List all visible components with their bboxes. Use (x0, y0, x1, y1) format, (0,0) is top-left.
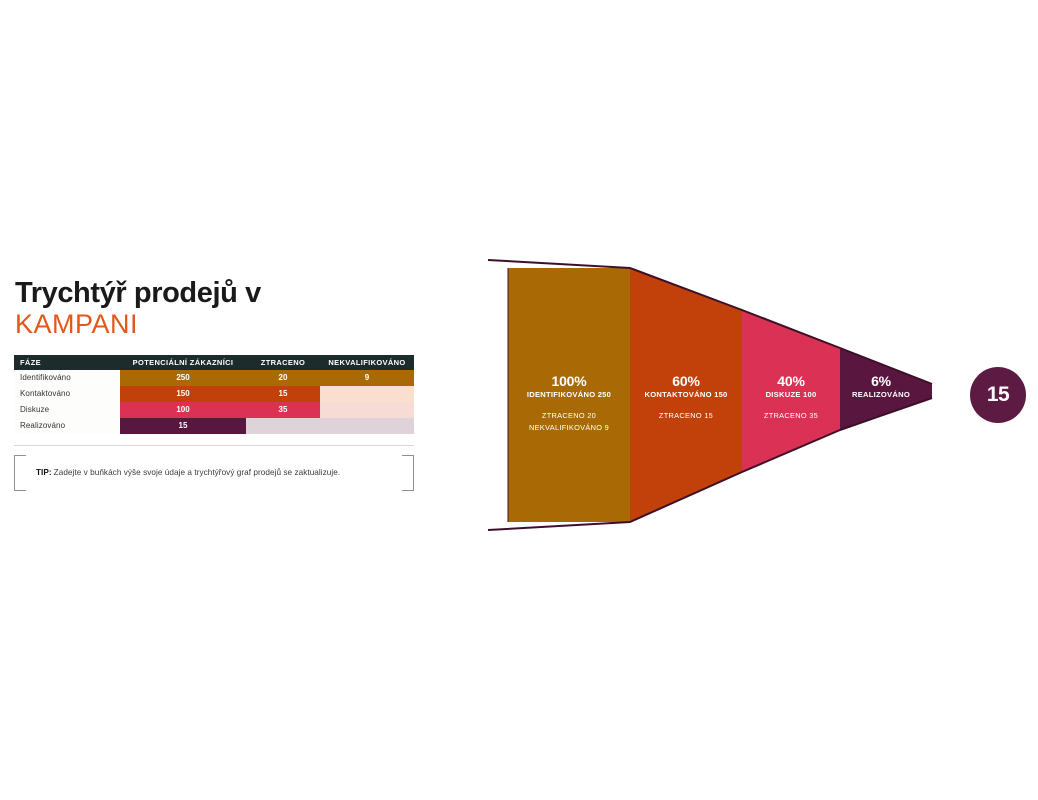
table-row[interactable]: Kontaktováno 150 15 (14, 386, 414, 402)
left-panel: Trychtýř prodejů v KAMPANI FÁZE POTENCIÁ… (14, 278, 414, 491)
table-body: Identifikováno 250 20 9 Kontaktováno 150… (14, 370, 414, 434)
cell-lost[interactable]: 15 (246, 386, 320, 402)
column-header-phase: FÁZE (14, 355, 120, 370)
cell-leads[interactable]: 250 (120, 370, 246, 386)
cell-unqualified[interactable] (320, 402, 414, 418)
tip-callout: TIP: Zadejte v buňkách výše svoje údaje … (14, 455, 414, 491)
funnel-segment-identified[interactable] (508, 268, 630, 522)
page-title: Trychtýř prodejů v KAMPANI (15, 278, 414, 339)
cell-unqualified[interactable] (320, 418, 414, 434)
column-header-unqualified: NEKVALIFIKOVÁNO (320, 355, 414, 370)
table-row[interactable]: Diskuze 100 35 (14, 402, 414, 418)
cell-leads[interactable]: 15 (120, 418, 246, 434)
sales-funnel-chart: 100% IDENTIFIKOVÁNO 250 ZTRACENO 20 NEKV… (480, 250, 1038, 540)
cell-leads[interactable]: 100 (120, 402, 246, 418)
tip-label: TIP: (36, 468, 52, 477)
cell-phase[interactable]: Diskuze (14, 402, 120, 418)
cell-lost[interactable]: 20 (246, 370, 320, 386)
cell-lost[interactable] (246, 418, 320, 434)
funnel-segment-discussion[interactable] (742, 310, 840, 472)
cell-phase[interactable]: Kontaktováno (14, 386, 120, 402)
bracket-right-icon (402, 455, 414, 491)
cell-unqualified[interactable]: 9 (320, 370, 414, 386)
funnel-result-badge: 15 (970, 367, 1026, 423)
page-title-line-1: Trychtýř prodejů v (15, 278, 414, 308)
tip-text-container: TIP: Zadejte v buňkách výše svoje údaje … (36, 455, 340, 491)
cell-phase[interactable]: Realizováno (14, 418, 120, 434)
cell-lost[interactable]: 35 (246, 402, 320, 418)
cell-leads[interactable]: 150 (120, 386, 246, 402)
funnel-data-table[interactable]: FÁZE POTENCIÁLNÍ ZÁKAZNÍCI ZTRACENO NEKV… (14, 355, 414, 434)
column-header-leads: POTENCIÁLNÍ ZÁKAZNÍCI (120, 355, 246, 370)
table-header-row: FÁZE POTENCIÁLNÍ ZÁKAZNÍCI ZTRACENO NEKV… (14, 355, 414, 370)
column-header-lost: ZTRACENO (246, 355, 320, 370)
funnel-segment-contacted[interactable] (630, 268, 742, 522)
cell-unqualified[interactable] (320, 386, 414, 402)
table-divider (14, 445, 414, 446)
funnel-shapes (480, 250, 1038, 540)
page-title-line-2: KAMPANI (15, 310, 414, 338)
cell-phase[interactable]: Identifikováno (14, 370, 120, 386)
tip-body: Zadejte v buňkách výše svoje údaje a try… (54, 468, 341, 477)
table-row[interactable]: Realizováno 15 (14, 418, 414, 434)
funnel-segment-realized[interactable] (840, 348, 932, 430)
table-header: FÁZE POTENCIÁLNÍ ZÁKAZNÍCI ZTRACENO NEKV… (14, 355, 414, 370)
bracket-left-icon (14, 455, 26, 491)
table-row[interactable]: Identifikováno 250 20 9 (14, 370, 414, 386)
